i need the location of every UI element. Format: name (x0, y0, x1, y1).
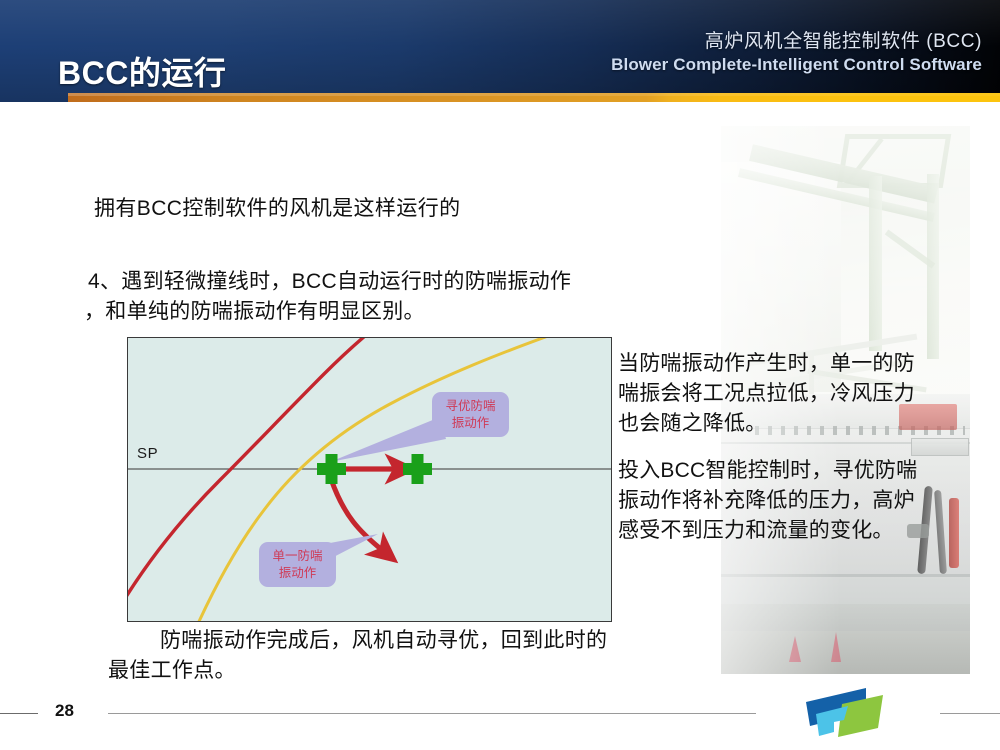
photo-column-left (869, 176, 882, 351)
surge-control-chart: SP 寻优防喘 振动作 单一防喘 振动作 (127, 337, 612, 622)
company-logo-svg (786, 684, 890, 742)
page-title: BCC的运行 (58, 48, 226, 94)
photo-seam-lower (721, 574, 970, 577)
right-explanation: 当防喘振动作产生时，单一的防喘振会将工况点拉低，冷风压力也会随之降低。 投入BC… (618, 349, 928, 546)
callout-single-line-1: 单一防喘 (268, 548, 327, 565)
operating-curve (196, 338, 548, 621)
company-logo (786, 684, 890, 742)
callout-leader-optimizing (330, 417, 446, 462)
sp-label: SP (137, 445, 158, 462)
footer-rule-middle (108, 713, 756, 714)
callout-optimizing: 寻优防喘 振动作 (432, 392, 509, 437)
chart-svg (128, 338, 611, 621)
lead-text: 拥有BCC控制软件的风机是这样运行的 (94, 192, 461, 222)
slide-header: BCC的运行 高炉风机全智能控制软件 (BCC) Blower Complete… (0, 0, 1000, 102)
right-paragraph-2: 投入BCC智能控制时，寻优防喘振动作将补充降低的压力，高炉感受不到压力和流量的变… (618, 456, 928, 545)
operating-point-after (403, 454, 432, 484)
brand-title-cn: 高炉风机全智能控制软件 (BCC) (611, 31, 982, 53)
paragraph-4-line-1: 4、遇到轻微撞线时，BCC自动运行时的防喘振动作 (88, 270, 571, 293)
header-accent-bar (68, 93, 1000, 102)
footer-rule-right (940, 713, 1000, 714)
brand-title-en: Blower Complete-Intelligent Control Soft… (611, 55, 982, 75)
slide: BCC的运行 高炉风机全智能控制软件 (BCC) Blower Complete… (0, 0, 1000, 750)
brand-block: 高炉风机全智能控制软件 (BCC) Blower Complete-Intell… (611, 31, 982, 75)
paragraph-4-line-2: ，和单纯的防喘振动作有明显区别。 (84, 297, 688, 327)
right-paragraph-1: 当防喘振动作产生时，单一的防喘振会将工况点拉低，冷风压力也会随之降低。 (618, 349, 928, 438)
photo-marker-cone-a (789, 636, 801, 662)
photo-red-pipe (949, 498, 959, 568)
callout-single-antisurge: 单一防喘 振动作 (259, 542, 336, 587)
footer-rule-left (0, 713, 38, 714)
bottom-caption: 防喘振动作完成后，风机自动寻优，回到此时的 最佳工作点。 (108, 626, 718, 687)
bottom-caption-line-2: 最佳工作点。 (108, 656, 718, 686)
paragraph-4: 4、遇到轻微撞线时，BCC自动运行时的防喘振动作 ，和单纯的防喘振动作有明显区别… (88, 267, 688, 328)
photo-floor (721, 631, 970, 674)
bottom-caption-line-1: 防喘振动作完成后，风机自动寻优，回到此时的 (108, 626, 718, 656)
callout-single-line-2: 振动作 (268, 565, 327, 582)
callout-optimizing-line-2: 振动作 (441, 415, 500, 432)
page-number: 28 (55, 701, 74, 721)
callout-optimizing-line-1: 寻优防喘 (441, 398, 500, 415)
photo-marker-cone-b (831, 632, 841, 662)
